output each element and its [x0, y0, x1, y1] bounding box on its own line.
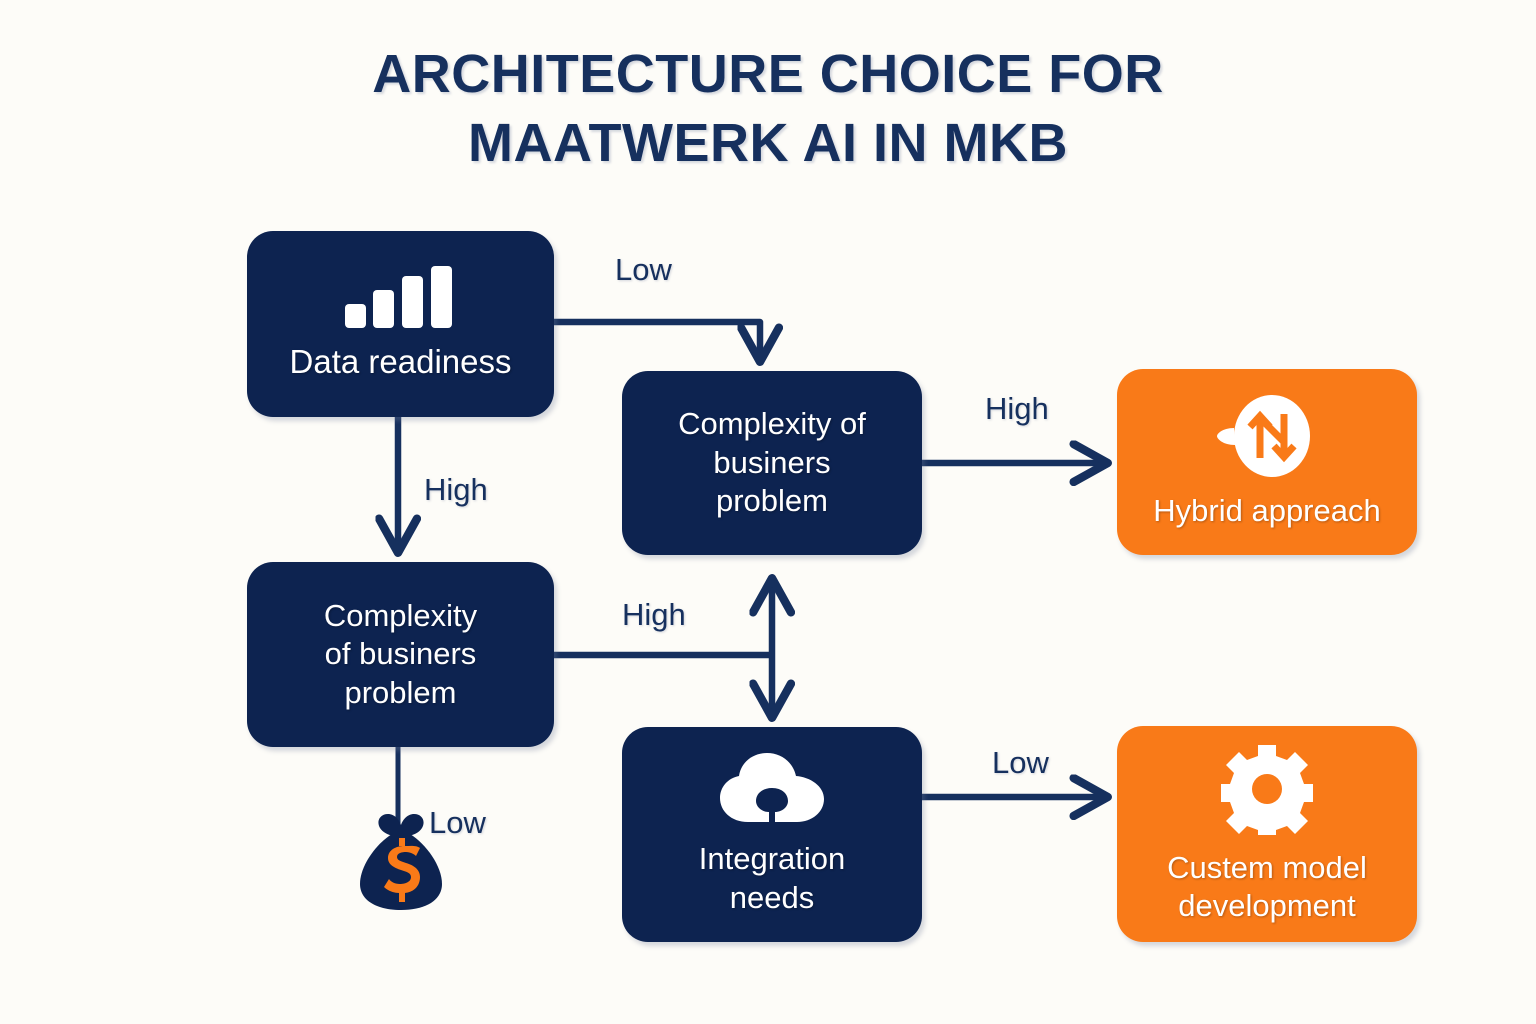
node-label: Data readiness: [290, 342, 512, 383]
edge-label-low-bag: Low: [429, 805, 486, 841]
node-custom-model-development[interactable]: Custem model development: [1117, 726, 1417, 942]
edge-label-low-right: Low: [992, 745, 1049, 781]
node-complexity-of-business-problem-top[interactable]: Complexity of businers problem: [622, 371, 922, 555]
diagram-canvas: Architecture choice for Maatwerk AI in M…: [0, 0, 1536, 1024]
node-hybrid-approach[interactable]: Hybrid appreach: [1117, 369, 1417, 555]
node-label: Complexity of businers problem: [324, 597, 477, 712]
edge-low-top: [554, 322, 760, 358]
node-label: Integration needs: [699, 840, 846, 917]
shuffle-arrows-icon: [1213, 394, 1321, 478]
gear-icon: [1221, 743, 1313, 835]
node-label: Custem model development: [1167, 849, 1367, 926]
edge-label-high-right: High: [985, 391, 1049, 427]
node-integration-needs[interactable]: Integration needs: [622, 727, 922, 942]
edge-label-high-mid: High: [622, 597, 686, 633]
node-complexity-of-business-problem-left[interactable]: Complexity of businers problem: [247, 562, 554, 747]
node-label: Hybrid appreach: [1153, 492, 1380, 530]
edge-label-low-top: Low: [615, 252, 672, 288]
node-data-readiness[interactable]: Data readiness: [247, 231, 554, 417]
node-label: Complexity of businers problem: [678, 405, 866, 520]
bar-chart-icon: [343, 266, 459, 328]
cloud-icon: [718, 752, 826, 826]
edge-label-high-left: High: [424, 472, 488, 508]
